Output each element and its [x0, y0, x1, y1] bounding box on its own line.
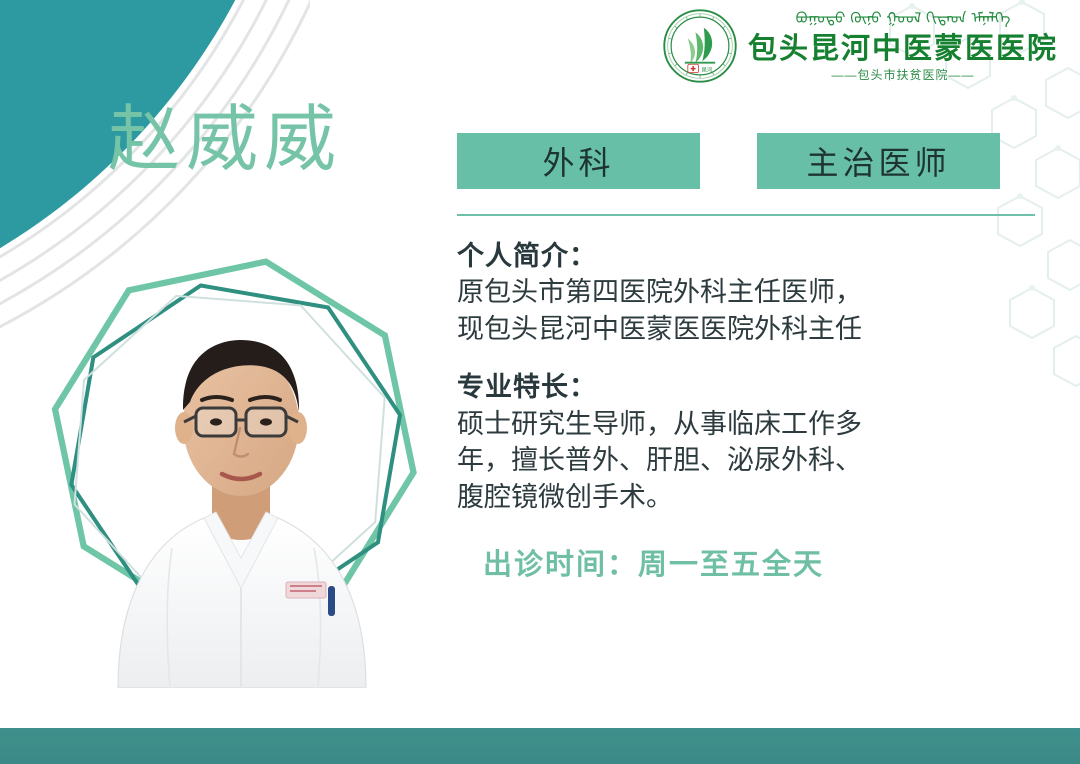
personal-intro-body: 原包头市第四医院外科主任医师， 现包头昆河中医蒙医医院外科主任 [457, 274, 1037, 347]
doctor-portrait-photo [100, 296, 382, 688]
hospital-subtitle: ——包头市扶贫医院—— [831, 69, 974, 81]
personal-intro-line: 现包头昆河中医蒙医医院外科主任 [457, 311, 1037, 347]
tag-department[interactable]: 外科 [457, 133, 700, 189]
hospital-logo: 昆河 ᠪᠤᠭᠤᠲᠤ ᠬᠦᠨᠦ ᠭᠤᠤᠯ ᠬᠢᠲᠠᠳ ᠡᠮᠨᠡᠯᠭᠡ 包头昆河中医… [662, 8, 1058, 84]
section-divider [457, 214, 1035, 216]
personal-intro-line: 原包头市第四医院外科主任医师， [457, 274, 1037, 310]
section-personal-intro: 个人简介： 原包头市第四医院外科主任医师， 现包头昆河中医蒙医医院外科主任 [457, 238, 1037, 347]
specialty-heading: 专业特长： [457, 369, 1037, 405]
doctor-tag-row: 外科 主治医师 [457, 133, 1037, 189]
tag-title[interactable]: 主治医师 [757, 133, 1000, 189]
doctor-profile-card: 昆河 ᠪᠤᠭᠤᠲᠤ ᠬᠦᠨᠦ ᠭᠤᠤᠯ ᠬᠢᠲᠠᠳ ᠡᠮᠨᠡᠯᠭᠡ 包头昆河中医… [0, 0, 1080, 764]
doctor-name: 赵威威 [108, 104, 342, 176]
svg-text:昆河: 昆河 [702, 65, 713, 73]
hospital-name-block: ᠪᠤᠭᠤᠲᠤ ᠬᠦᠨᠦ ᠭᠤᠤᠯ ᠬᠢᠲᠠᠳ ᠡᠮᠨᠡᠯᠭᠡ 包头昆河中医蒙医医… [748, 11, 1058, 81]
specialty-line: 腹腔镜微创手术。 [457, 479, 1037, 515]
specialty-line: 硕士研究生导师，从事临床工作多 [457, 406, 1037, 442]
hospital-name-chinese: 包头昆河中医蒙医医院 [748, 35, 1058, 64]
specialty-line: 年，擅长普外、肝胆、泌尿外科、 [457, 442, 1037, 478]
specialty-body: 硕士研究生导师，从事临床工作多 年，擅长普外、肝胆、泌尿外科、 腹腔镜微创手术。 [457, 406, 1037, 515]
personal-intro-heading: 个人简介： [457, 238, 1037, 274]
hospital-emblem-icon: 昆河 [662, 8, 738, 84]
section-specialty: 专业特长： 硕士研究生导师，从事临床工作多 年，擅长普外、肝胆、泌尿外科、 腹腔… [457, 369, 1037, 515]
doctor-photo-frame [24, 212, 444, 692]
doctor-info-column: 外科 主治医师 个人简介： 原包头市第四医院外科主任医师， 现包头昆河中医蒙医医… [457, 133, 1037, 583]
consultation-schedule: 出诊时间：周一至五全天 [483, 541, 1037, 583]
bottom-accent-bar [0, 728, 1080, 764]
hospital-name-mongolian: ᠪᠤᠭᠤᠲᠤ ᠬᠦᠨᠦ ᠭᠤᠤᠯ ᠬᠢᠲᠠᠳ ᠡᠮᠨᠡᠯᠭᠡ [796, 11, 1011, 33]
